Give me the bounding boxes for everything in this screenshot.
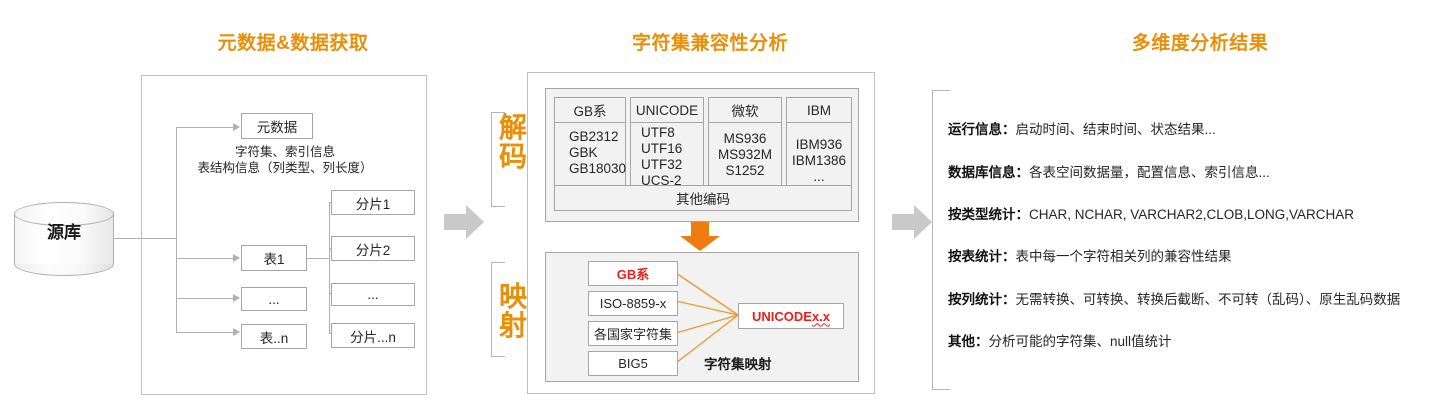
section-title-metadata: 元数据&数据获取: [193, 28, 393, 55]
encoding-item: GBK: [569, 145, 625, 161]
result-text: 表中每一个字符相关列的兼容性结果: [1016, 249, 1232, 264]
result-line-db-info: 数据库信息：各表空间数据量，配置信息、索引信息...: [948, 161, 1270, 181]
result-text: CHAR, NCHAR, VARCHAR2,CLOB,LONG,VARCHAR: [1029, 207, 1354, 222]
encoding-item: GB18030: [569, 161, 625, 177]
stage-label-mapping: 映射: [497, 282, 529, 340]
result-line-by-table: 按表统计：表中每一个字符相关列的兼容性结果: [948, 245, 1232, 265]
down-block-arrow-icon: [679, 222, 721, 252]
shard-box-3: ...: [331, 283, 415, 306]
encoding-item: MS936: [709, 131, 781, 147]
mapping-target-unicode: UNICODE x.x: [738, 303, 844, 329]
result-label: 按表统计：: [948, 249, 1016, 264]
charset-mapping-panel: GB系 ISO-8859-x 各国家字符集 BIG5 UNICODE x.x 字…: [545, 252, 859, 382]
shard-box-2: 分片2: [331, 236, 415, 261]
result-line-by-type: 按类型统计：CHAR, NCHAR, VARCHAR2,CLOB,LONG,VA…: [948, 203, 1354, 223]
encoding-item: S1252: [709, 163, 781, 179]
branch-to-table-3: [176, 332, 234, 333]
encoding-column-gb: GB系 GB2312 GBK GB18030: [554, 97, 626, 195]
result-line-by-column: 按列统计：无需转换、可转换、转换后截断、不可转（乱码）、原生乱码数据: [948, 288, 1400, 308]
encoding-item: UTF32: [641, 157, 703, 173]
result-label: 其他：: [948, 334, 989, 349]
arrowhead-table-1: [233, 254, 240, 262]
encoding-other-row: 其他编码: [554, 185, 852, 211]
metadata-box: 元数据: [241, 113, 313, 139]
result-text: 无需转换、可转换、转换后截断、不可转（乱码）、原生乱码数据: [1016, 292, 1401, 307]
result-line-other: 其他：分析可能的字符集、null值统计: [948, 330, 1172, 350]
metadata-notes: 字符集、索引信息 表结构信息（列类型、列长度）: [150, 144, 420, 176]
shard-trunk-vertical: [329, 202, 330, 333]
arrowhead-table-3: [233, 328, 240, 336]
result-text: 各表空间数据量，配置信息、索引信息...: [1029, 165, 1270, 180]
branch-to-metadata: [176, 127, 234, 128]
branch-to-table-1: [176, 258, 234, 259]
encoding-item: IBM1386: [787, 153, 851, 169]
decode-text: 解码: [497, 113, 529, 171]
mapping-source-big5: BIG5: [588, 351, 678, 376]
table-box-1: 表1: [241, 245, 307, 271]
encoding-column-unicode: UNICODE UTF8 UTF16 UTF32 UCS-2 UCS-4: [630, 97, 704, 195]
shard-box-1: 分片1: [331, 190, 415, 215]
encoding-item: GB2312: [569, 129, 625, 145]
section-title-charset: 字符集兼容性分析: [600, 28, 820, 55]
encoding-column-gb-header: GB系: [554, 97, 626, 123]
encoding-column-unicode-header: UNICODE: [630, 97, 704, 123]
mapping-target-prefix: UNICODE: [752, 309, 812, 324]
metadata-note-2: 表结构信息（列类型、列长度）: [150, 160, 420, 176]
source-database-label: 源库: [14, 218, 114, 243]
encoding-item: UTF16: [641, 141, 703, 157]
encoding-item: MS932M: [709, 147, 781, 163]
table-box-3: 表..n: [241, 324, 307, 349]
result-label: 按列统计：: [948, 292, 1016, 307]
result-label: 按类型统计：: [948, 207, 1029, 222]
result-text: 分析可能的字符集、null值统计: [989, 334, 1172, 349]
table-box-2: ...: [241, 287, 307, 311]
result-line-run-info: 运行信息：启动时间、结束时间、状态结果...: [948, 118, 1216, 138]
stage-label-decode: 解码: [497, 113, 529, 171]
encoding-item: IBM936: [787, 137, 851, 153]
shard-box-4: 分片...n: [331, 323, 415, 348]
encoding-column-ibm: IBM IBM936 IBM1386 ...: [786, 97, 852, 195]
arrowhead-metadata: [233, 123, 240, 131]
encoding-column-microsoft-header: 微软: [708, 97, 782, 123]
mapping-target-version: x.x: [812, 309, 830, 324]
mapping-source-iso: ISO-8859-x: [588, 291, 678, 316]
arrowhead-table-2: [233, 294, 240, 302]
right-block-arrow-icon-1: [442, 200, 486, 244]
metadata-note-1: 字符集、索引信息: [150, 144, 420, 160]
section-title-results: 多维度分析结果: [1090, 28, 1310, 55]
mapping-source-national: 各国家字符集: [588, 321, 678, 346]
encoding-item: ...: [787, 169, 851, 185]
encoding-column-microsoft: 微软 MS936 MS932M S1252 ...: [708, 97, 782, 195]
result-text: 启动时间、结束时间、状态结果...: [1016, 122, 1216, 137]
branch-to-table-2: [176, 298, 234, 299]
encoding-table: GB系 GB2312 GBK GB18030 UNICODE UTF8 UTF1…: [545, 88, 859, 222]
mapping-source-gb: GB系: [588, 261, 678, 286]
result-label: 数据库信息：: [948, 165, 1029, 180]
mapping-text: 映射: [497, 282, 529, 340]
connector-table-to-shards: [307, 258, 329, 259]
result-label: 运行信息：: [948, 122, 1016, 137]
right-block-arrow-icon-2: [890, 200, 934, 244]
diagram-canvas: 元数据&数据获取 字符集兼容性分析 多维度分析结果 源库 元数据 字符集、索引信…: [0, 0, 1441, 417]
encoding-column-ibm-header: IBM: [786, 97, 852, 123]
encoding-item: UTF8: [641, 125, 703, 141]
mapping-caption: 字符集映射: [704, 353, 772, 373]
